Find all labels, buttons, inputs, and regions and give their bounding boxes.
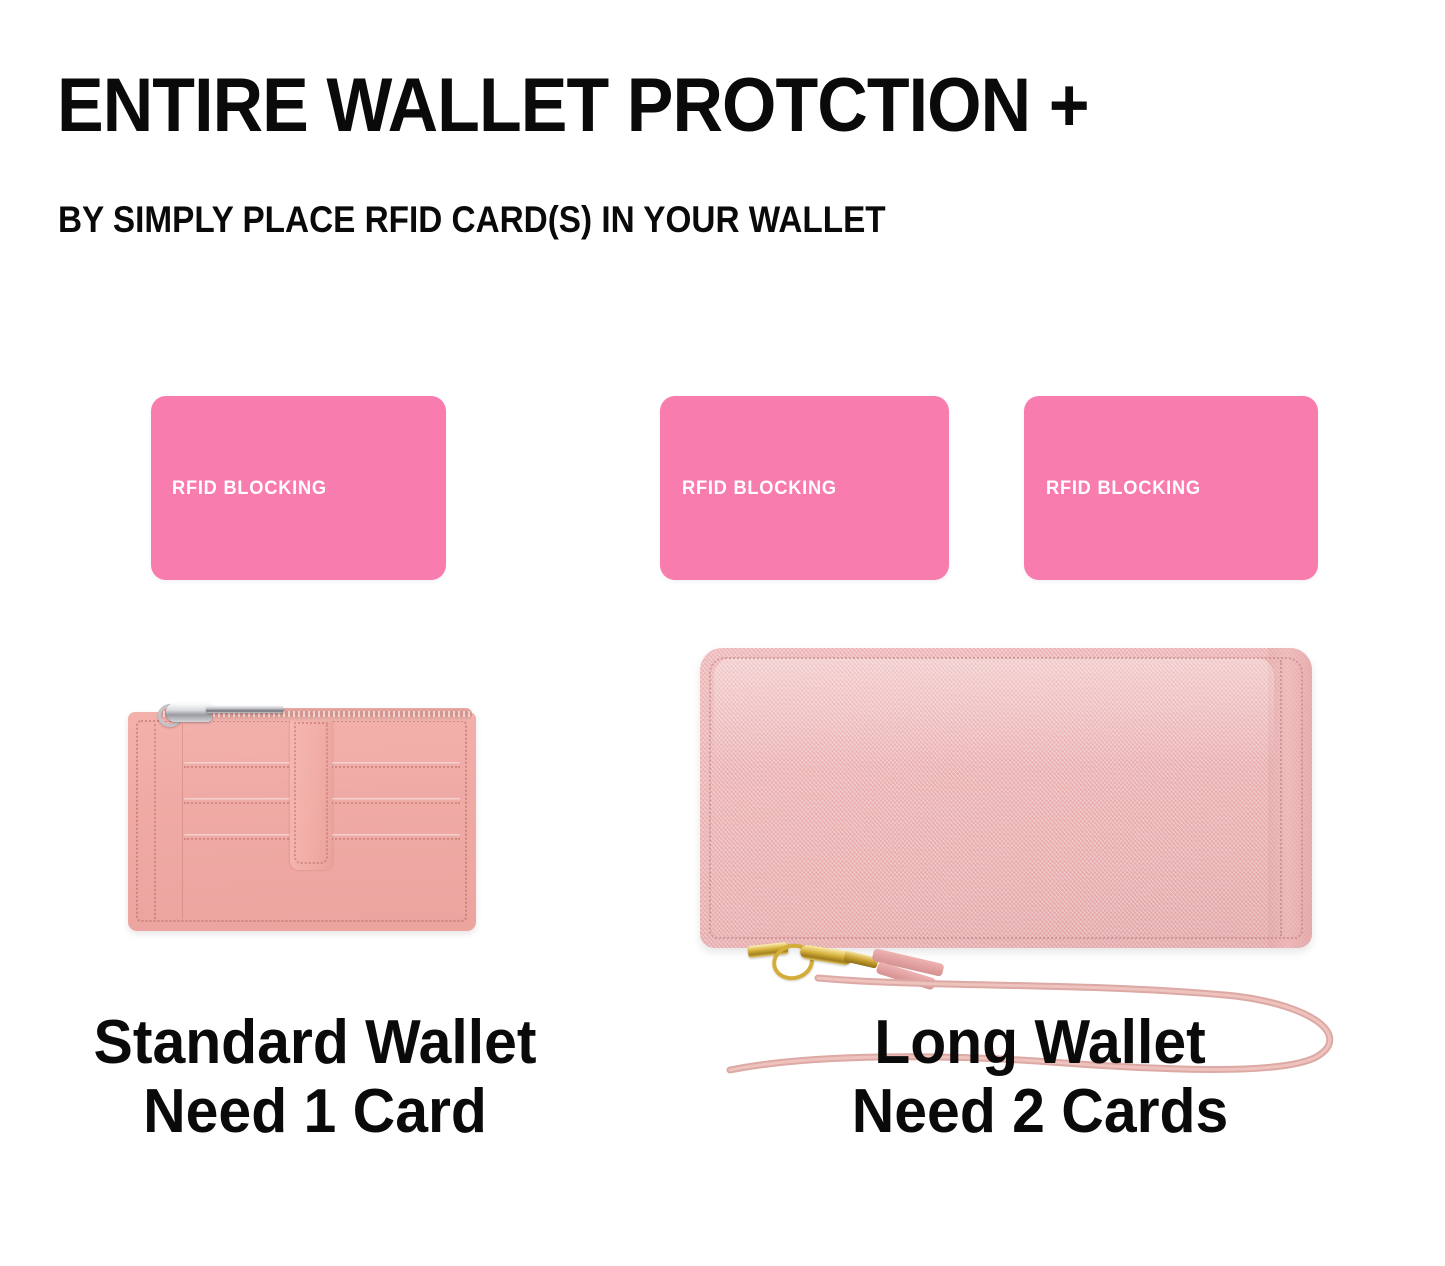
rfid-wallet-infographic: ENTIRE WALLET PROTCTION + BY SIMPLY PLAC… — [0, 0, 1445, 1266]
rfid-card-label: RFID BLOCKING — [172, 478, 327, 500]
zipper-slider — [166, 703, 212, 722]
long-wallet-label: Long Wallet Need 2 Cards — [800, 1008, 1280, 1147]
standard-wallet-image — [128, 700, 476, 931]
tab-stitching — [294, 722, 328, 864]
rfid-card-label: RFID BLOCKING — [1046, 478, 1201, 500]
page-title: ENTIRE WALLET PROTCTION + — [57, 68, 1089, 144]
rfid-card: RFID BLOCKING — [1024, 396, 1318, 580]
rfid-card-label: RFID BLOCKING — [682, 478, 837, 500]
rfid-card: RFID BLOCKING — [151, 396, 446, 580]
product-requirement: Need 2 Cards — [812, 1077, 1268, 1146]
wallet-slot-divider — [182, 724, 183, 919]
zipper-pull — [206, 706, 284, 713]
product-requirement: Need 1 Card — [68, 1077, 562, 1146]
product-name: Standard Wallet — [68, 1008, 562, 1077]
wallet-slot-divider — [154, 724, 156, 919]
rfid-card: RFID BLOCKING — [660, 396, 949, 580]
wallet-stitching — [709, 657, 1303, 939]
product-name: Long Wallet — [812, 1008, 1268, 1077]
page-subtitle: BY SIMPLY PLACE RFID CARD(S) IN YOUR WAL… — [58, 201, 886, 238]
standard-wallet-label: Standard Wallet Need 1 Card — [55, 1008, 575, 1147]
wallet-center-tab — [290, 718, 332, 870]
long-wallet-image — [700, 648, 1312, 948]
